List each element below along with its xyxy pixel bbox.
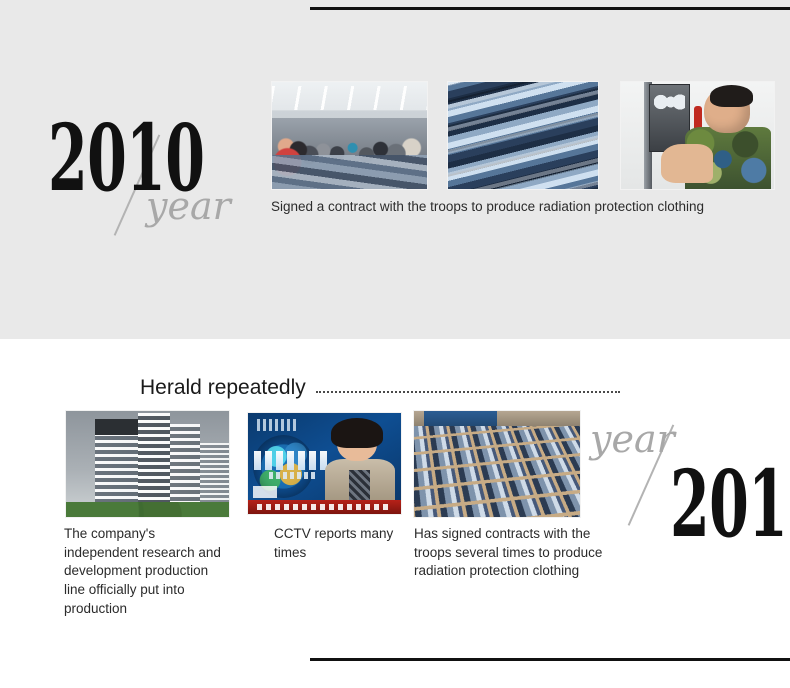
news-ticker-bar	[248, 500, 401, 514]
herald-heading-row: Herald repeatedly	[140, 376, 620, 400]
garment-box-grid	[413, 426, 581, 518]
cctv-channel-logo	[257, 419, 297, 431]
news-program-title-text	[254, 451, 327, 469]
photo-cctv-news-broadcast	[247, 412, 402, 515]
broadcast-corner-caption	[253, 486, 277, 498]
soldier-hair	[710, 85, 753, 106]
year-label-2010: year	[146, 187, 231, 225]
live-news-text	[269, 472, 315, 479]
timeline-page: 2010 year Signed a contract with the tro…	[0, 0, 790, 688]
photo-garment-factory-workers	[271, 81, 428, 190]
bundle-strapping-bands	[448, 82, 598, 189]
street-trees	[66, 502, 229, 517]
herald-heading-text: Herald repeatedly	[140, 376, 306, 400]
building-block-center	[138, 413, 171, 508]
caption-2011-item-1: The company's independent research and d…	[64, 525, 229, 618]
photo-company-office-building	[65, 410, 230, 518]
news-anchor-scarf	[349, 470, 370, 504]
caption-2011-item-3: Has signed contracts with the troops sev…	[414, 525, 614, 581]
bottom-divider-rule	[310, 658, 790, 661]
factory-ceiling-lamps	[272, 86, 427, 110]
caption-2010: Signed a contract with the troops to pro…	[271, 198, 776, 217]
photo-soldier-at-equipment-panel	[620, 81, 775, 190]
caption-2011-item-2: CCTV reports many times	[274, 525, 399, 562]
year-number-2011: 2011	[670, 458, 790, 550]
news-anchor-hair	[331, 418, 383, 448]
top-divider-rule	[310, 7, 790, 10]
electrical-panel	[649, 84, 691, 152]
year-label-2011: year	[590, 420, 675, 458]
building-block-main	[95, 419, 137, 508]
factory-workbenches	[272, 155, 427, 189]
herald-dotted-leader	[316, 390, 620, 393]
building-block-far	[200, 443, 229, 509]
soldier-arm	[661, 144, 713, 183]
building-block-right	[170, 424, 199, 509]
photo-boxed-garments-grid	[413, 410, 581, 518]
photo-stacked-fabric-bundles	[447, 81, 599, 190]
